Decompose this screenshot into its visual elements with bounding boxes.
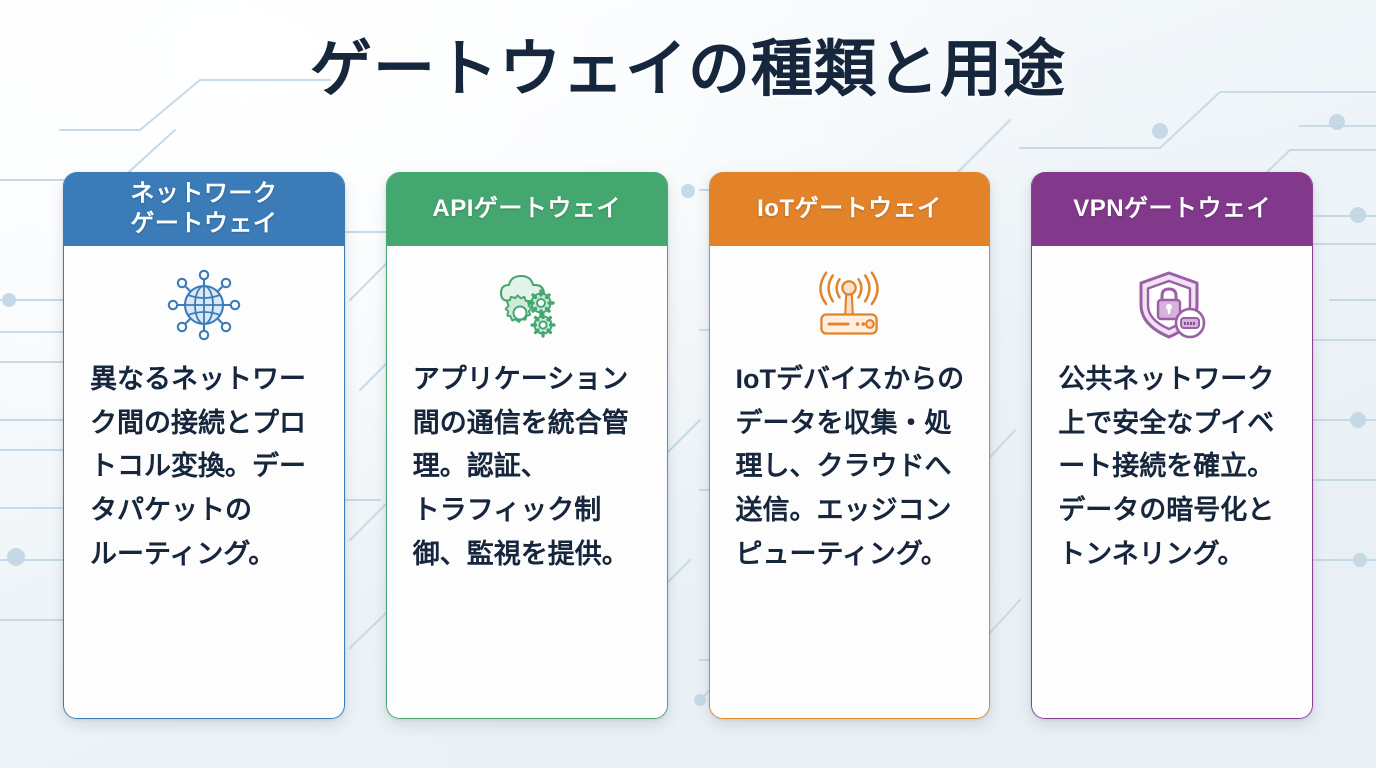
shield-lock-icon: [1133, 268, 1211, 342]
card-body-network-gateway: 異なるネットワーク間の接続とプロトコル変換。データパケットの ルーティング。: [64, 246, 344, 718]
page-title: ゲートウェイの種類と用途: [0, 36, 1376, 104]
card-body-api-gateway: アプリケーション間の通信を統合管理。認証、 トラフィック制御、監視を提供。: [387, 246, 667, 718]
card-vpn-gateway[interactable]: VPNゲートウェイ: [1031, 172, 1313, 719]
card-header-api-gateway: APIゲートウェイ: [386, 172, 668, 246]
card-title-line-1: APIゲートウェイ: [432, 194, 621, 223]
card-description-network-gateway: 異なるネットワーク間の接続とプロトコル変換。データパケットの ルーティング。: [82, 358, 326, 577]
card-description-vpn-gateway: 公共ネットワーク上で安全なプイベート接続を確立。データの暗号化とトンネリング。: [1050, 358, 1294, 577]
card-body-iot-gateway: IoTデバイスからのデータを収集・処理し、クラウドへ送信。エッジコンピューティン…: [710, 246, 990, 718]
card-header-vpn-gateway: VPNゲートウェイ: [1031, 172, 1313, 246]
title-container: ゲートウェイの種類と用途: [0, 36, 1376, 104]
card-iot-gateway[interactable]: IoTゲートウェイ: [709, 172, 991, 719]
card-api-gateway[interactable]: APIゲートウェイ: [386, 172, 668, 719]
globe-network-icon: [165, 268, 243, 342]
card-title-line-2: ゲートウェイ: [130, 209, 277, 238]
router-antenna-icon: [810, 268, 888, 342]
card-title-line-1: VPNゲートウェイ: [1073, 194, 1271, 223]
cloud-gears-icon: [488, 268, 566, 342]
card-description-api-gateway: アプリケーション間の通信を統合管理。認証、 トラフィック制御、監視を提供。: [405, 358, 649, 577]
card-title-line-1: IoTゲートウェイ: [757, 194, 942, 223]
card-description-iot-gateway: IoTデバイスからのデータを収集・処理し、クラウドへ送信。エッジコンピューティン…: [728, 358, 972, 577]
card-header-network-gateway: ネットワーク ゲートウェイ: [63, 172, 345, 246]
gateway-cards-row: ネットワーク ゲートウェイ: [63, 172, 1313, 720]
card-body-vpn-gateway: 公共ネットワーク上で安全なプイベート接続を確立。データの暗号化とトンネリング。: [1032, 246, 1312, 718]
infographic-stage: ゲートウェイの種類と用途 ネットワーク ゲートウェイ: [0, 0, 1376, 768]
card-title-line-1: ネットワーク: [130, 179, 277, 208]
card-network-gateway[interactable]: ネットワーク ゲートウェイ: [63, 172, 345, 719]
card-header-iot-gateway: IoTゲートウェイ: [709, 172, 991, 246]
